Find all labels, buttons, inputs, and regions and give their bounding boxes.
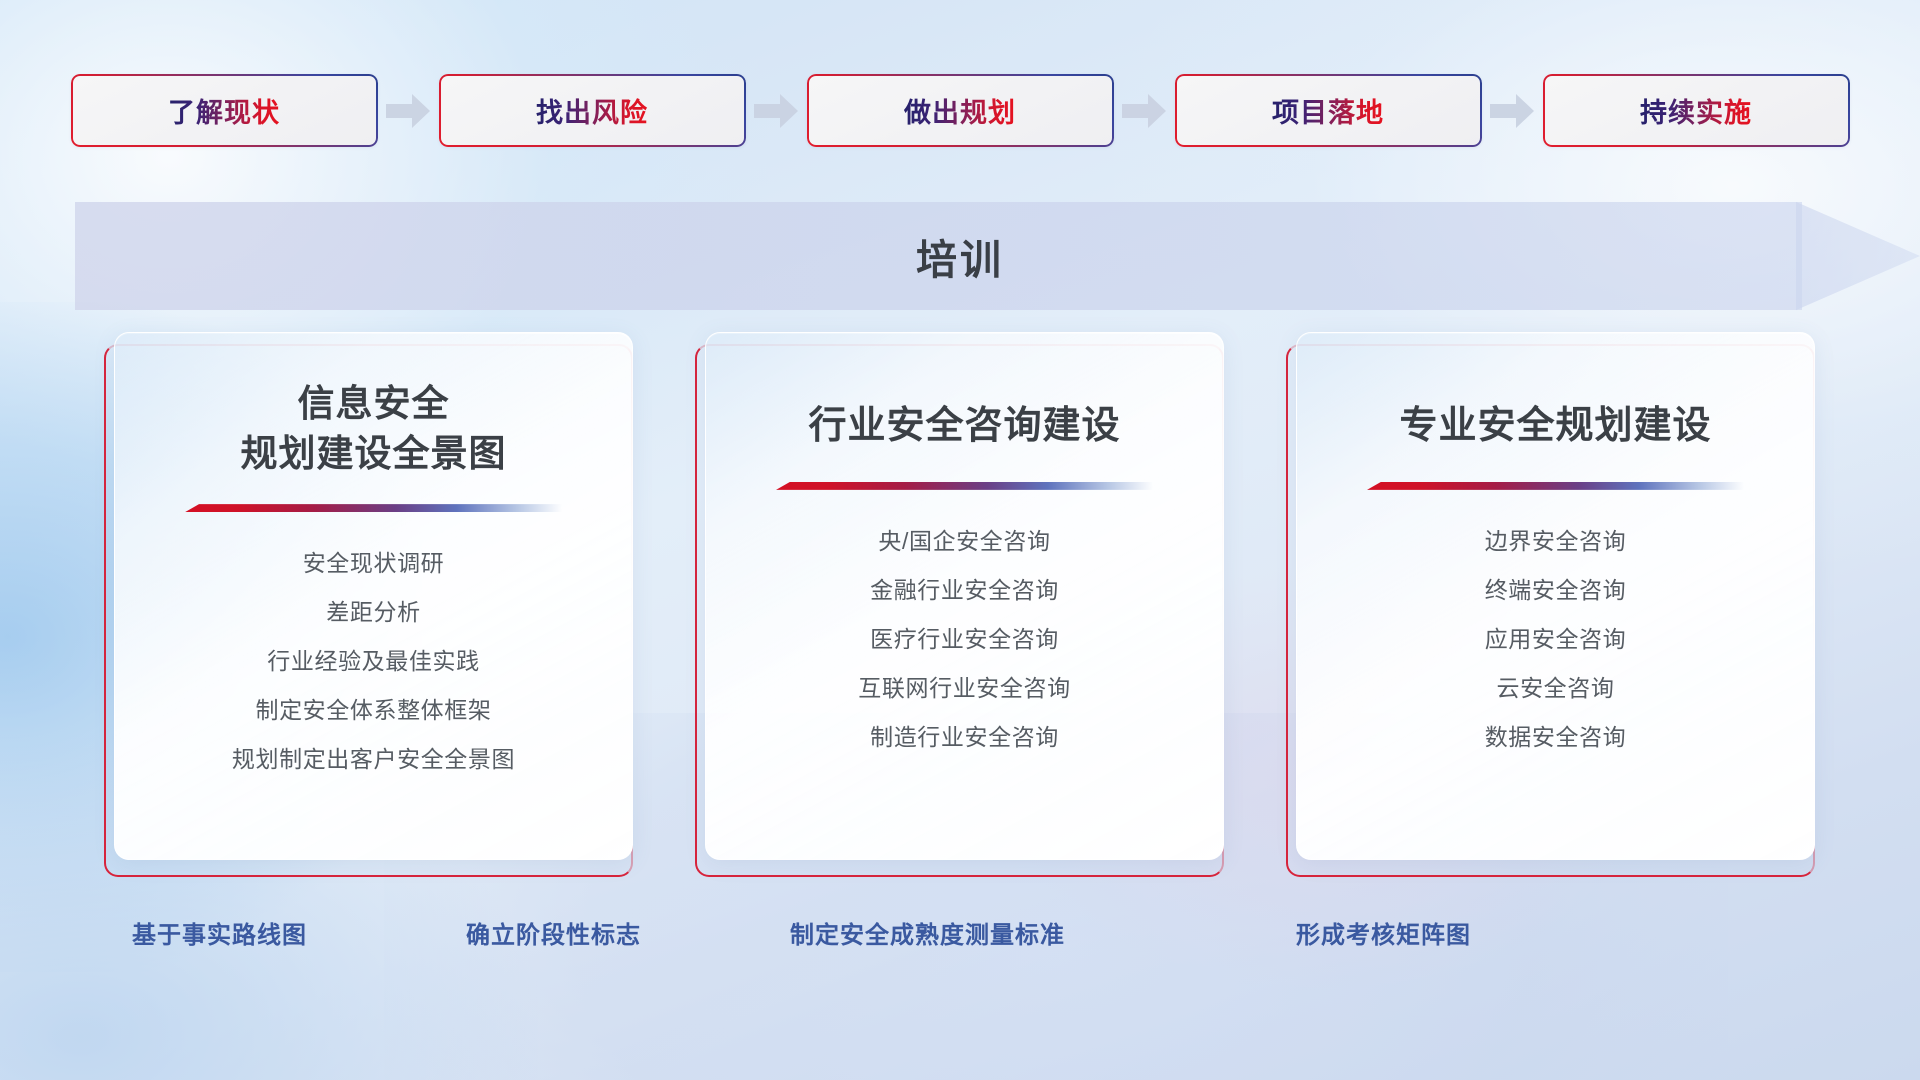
service-card-3[interactable]: 专业安全规划建设边界安全咨询终端安全咨询应用安全咨询云安全咨询数据安全咨询 — [1286, 332, 1815, 877]
service-cards-row: 信息安全 规划建设全景图安全现状调研差距分析行业经验及最佳实践制定安全体系整体框… — [104, 332, 1816, 877]
step-box-1[interactable]: 了解现状 — [71, 74, 378, 147]
list-item: 差距分析 — [326, 593, 420, 627]
list-item: 央/国企安全咨询 — [878, 522, 1050, 556]
list-item: 制定安全体系整体框架 — [255, 691, 491, 725]
list-item: 行业经验及最佳实践 — [267, 642, 479, 676]
step-label-2: 找出风险 — [536, 91, 648, 130]
list-item: 数据安全咨询 — [1485, 718, 1627, 752]
step-label-4: 项目落地 — [1272, 91, 1384, 130]
step-label-5: 持续实施 — [1640, 91, 1752, 130]
step-arrow-icon-4 — [1482, 90, 1543, 132]
list-item: 规划制定出客户安全全景图 — [232, 740, 515, 774]
card-panel-2: 行业安全咨询建设央/国企安全咨询金融行业安全咨询医疗行业安全咨询互联网行业安全咨… — [705, 332, 1224, 860]
service-card-1[interactable]: 信息安全 规划建设全景图安全现状调研差距分析行业经验及最佳实践制定安全体系整体框… — [104, 332, 633, 877]
card-item-list-3: 边界安全咨询终端安全咨询应用安全咨询云安全咨询数据安全咨询 — [1485, 522, 1627, 752]
list-item: 安全现状调研 — [303, 544, 445, 578]
step-label-3: 做出规划 — [904, 91, 1016, 130]
step-arrow-icon-1 — [378, 90, 439, 132]
list-item: 互联网行业安全咨询 — [858, 669, 1070, 703]
card-item-list-2: 央/国企安全咨询金融行业安全咨询医疗行业安全咨询互联网行业安全咨询制造行业安全咨… — [858, 522, 1070, 752]
card-panel-3: 专业安全规划建设边界安全咨询终端安全咨询应用安全咨询云安全咨询数据安全咨询 — [1296, 332, 1815, 860]
card-panel-1: 信息安全 规划建设全景图安全现状调研差距分析行业经验及最佳实践制定安全体系整体框… — [114, 332, 633, 860]
list-item: 云安全咨询 — [1496, 669, 1614, 703]
step-arrow-icon-2 — [746, 90, 807, 132]
training-band: 培训 — [0, 202, 1920, 310]
list-item: 终端安全咨询 — [1485, 571, 1627, 605]
card-divider-2 — [776, 482, 1153, 490]
footer-label-2: 确立阶段性标志 — [466, 915, 641, 950]
step-box-2[interactable]: 找出风险 — [439, 74, 746, 147]
card-divider-3 — [1367, 482, 1744, 490]
footer-label-1: 基于事实路线图 — [132, 915, 307, 950]
step-arrow-icon-3 — [1114, 90, 1175, 132]
footer-label-4: 形成考核矩阵图 — [1296, 915, 1471, 950]
footer-label-3: 制定安全成熟度测量标准 — [790, 915, 1065, 950]
card-title-2: 行业安全咨询建设 — [808, 401, 1120, 452]
step-box-4[interactable]: 项目落地 — [1175, 74, 1482, 147]
process-steps-row: 了解现状找出风险做出规划项目落地持续实施 — [0, 74, 1920, 147]
list-item: 边界安全咨询 — [1485, 522, 1627, 556]
list-item: 制造行业安全咨询 — [870, 718, 1059, 752]
card-title-3: 专业安全规划建设 — [1399, 401, 1711, 452]
list-item: 医疗行业安全咨询 — [870, 620, 1059, 654]
list-item: 应用安全咨询 — [1485, 620, 1627, 654]
step-box-3[interactable]: 做出规划 — [807, 74, 1114, 147]
card-divider-1 — [185, 504, 562, 512]
footer-labels-row: 基于事实路线图确立阶段性标志制定安全成熟度测量标准形成考核矩阵图 — [0, 915, 1920, 961]
training-band-label: 培训 — [0, 202, 1920, 310]
step-box-5[interactable]: 持续实施 — [1543, 74, 1850, 147]
service-card-2[interactable]: 行业安全咨询建设央/国企安全咨询金融行业安全咨询医疗行业安全咨询互联网行业安全咨… — [695, 332, 1224, 877]
card-item-list-1: 安全现状调研差距分析行业经验及最佳实践制定安全体系整体框架规划制定出客户安全全景… — [232, 544, 515, 774]
card-title-1: 信息安全 规划建设全景图 — [241, 379, 507, 478]
list-item: 金融行业安全咨询 — [870, 571, 1059, 605]
step-label-1: 了解现状 — [168, 91, 280, 130]
